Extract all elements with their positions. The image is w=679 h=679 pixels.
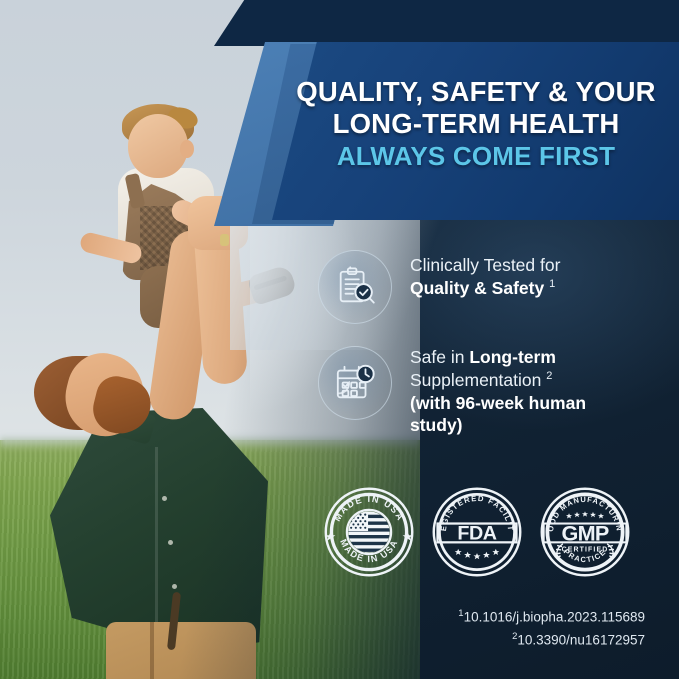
feature-1-line-2: Quality & Safety (410, 278, 544, 298)
calendar-clock-icon (318, 346, 392, 420)
svg-text:GMP: GMP (562, 520, 609, 545)
feature-text-clinically-tested: Clinically Tested for Quality & Safety 1 (410, 250, 560, 300)
feature-1-line-1: Clinically Tested for (410, 255, 560, 275)
footnote-1: 110.1016/j.biopha.2023.115689 (458, 606, 645, 628)
footnote-1-doi: 10.1016/j.biopha.2023.115689 (464, 610, 645, 625)
feature-item-long-term-safety: Safe in Long-term Supplementation 2 (wit… (318, 346, 663, 437)
header-dark-strip (214, 0, 679, 46)
headline-line-1: QUALITY, SAFETY & YOUR (286, 76, 666, 108)
footnote-2: 210.3390/nu16172957 (458, 629, 645, 651)
svg-text:FDA: FDA (457, 523, 496, 545)
headline-line-2: LONG-TERM HEALTH (286, 108, 666, 140)
feature-2-line-1-bold: Long-term (469, 347, 556, 367)
promotional-banner: QUALITY, SAFETY & YOUR LONG-TERM HEALTH … (0, 0, 679, 679)
headline-block: QUALITY, SAFETY & YOUR LONG-TERM HEALTH … (286, 76, 666, 174)
feature-item-clinically-tested: Clinically Tested for Quality & Safety 1 (318, 250, 663, 324)
gmp-certified-badge: GMP GOOD MANUFACTURING PRACTICE CERTIFIE… (538, 485, 632, 579)
feature-2-line-3: (with 96-week human (410, 393, 586, 413)
feature-list: Clinically Tested for Quality & Safety 1 (318, 250, 663, 459)
feature-2-line-1-plain: Safe in (410, 347, 469, 367)
feature-1-footnote-marker: 1 (549, 278, 555, 290)
headline-accent-line: ALWAYS COME FIRST (286, 140, 666, 174)
made-in-usa-badge: MADE IN USA MADE IN USA (322, 485, 416, 579)
feature-2-line-4: study) (410, 415, 463, 435)
feature-2-line-2: Supplementation (410, 370, 541, 390)
fda-registered-facility-badge: FDA REGISTERED FACILITY (430, 485, 524, 579)
feature-text-long-term-safety: Safe in Long-term Supplementation 2 (wit… (410, 346, 586, 437)
certification-badges: MADE IN USA MADE IN USA FDA REGISTERED F… (322, 483, 632, 581)
clipboard-magnifier-check-icon (318, 250, 392, 324)
footnote-2-doi: 10.3390/nu16172957 (517, 632, 645, 647)
footnote-references: 110.1016/j.biopha.2023.115689 210.3390/n… (458, 606, 645, 651)
feature-2-footnote-marker: 2 (546, 370, 552, 382)
svg-text:CERTIFIED: CERTIFIED (562, 546, 609, 553)
